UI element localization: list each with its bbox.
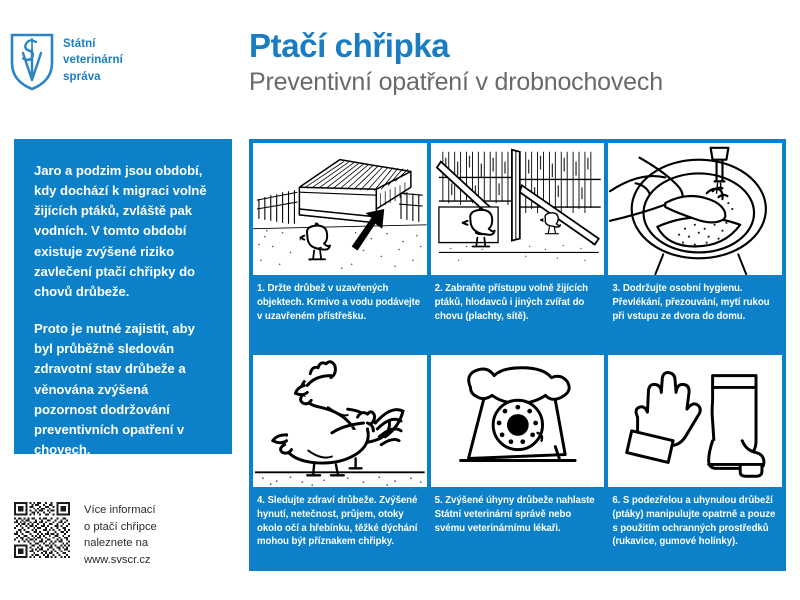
panel-caption-3: 3. Dodržujte osobní hygienu. Převlékání,… bbox=[608, 275, 782, 337]
footer-line-1: Více informací bbox=[84, 502, 157, 519]
panel-illustration-2 bbox=[431, 143, 605, 275]
page-title: Ptačí chřipka bbox=[249, 28, 663, 65]
handwashing-under-tap-icon bbox=[608, 143, 782, 275]
prevention-step-5: 5. Zvýšené úhyny drůbeže nahlaste Státní… bbox=[431, 355, 605, 567]
panel-caption-4: 4. Sledujte zdraví drůbeže. Zvýšené hynu… bbox=[253, 487, 427, 554]
organization-name: Státní veterinární správa bbox=[63, 33, 123, 85]
prevention-step-3: 3. Dodržujte osobní hygienu. Převlékání,… bbox=[608, 143, 782, 351]
prevention-step-1: 1. Držte drůbež v uzavřených objektech. … bbox=[253, 143, 427, 351]
glove-and-rubber-boot-icon bbox=[608, 355, 782, 487]
panel-caption-1: 1. Držte drůbež v uzavřených objektech. … bbox=[253, 275, 427, 337]
footer-line-2: o ptačí chřipce bbox=[84, 519, 157, 536]
logo-line-1: Státní bbox=[63, 36, 123, 52]
prevention-step-2: 2. Zabraňte přístupu volně žijících pták… bbox=[431, 143, 605, 351]
footer-website-url: www.svscr.cz bbox=[84, 552, 157, 569]
panel-illustration-3 bbox=[608, 143, 782, 275]
panel-illustration-5 bbox=[431, 355, 605, 487]
logo-line-3: správa bbox=[63, 69, 123, 85]
qr-code-icon bbox=[14, 502, 70, 558]
organization-logo: Státní veterinární správa bbox=[10, 33, 123, 91]
footer-text: Více informací o ptačí chřipce naleznete… bbox=[84, 502, 157, 568]
rotary-telephone-icon bbox=[431, 355, 605, 487]
panel-caption-2: 2. Zabraňte přístupu volně žijících pták… bbox=[431, 275, 605, 337]
title-block: Ptačí chřipka Preventivní opatření v dro… bbox=[249, 28, 663, 97]
info-sidebar: Jaro a podzim jsou období, kdy dochází k… bbox=[14, 139, 232, 454]
panel-illustration-1 bbox=[253, 143, 427, 275]
barn-with-chicken-icon bbox=[253, 143, 427, 275]
footer-info: Více informací o ptačí chřipce naleznete… bbox=[14, 502, 157, 568]
two-chickens-icon bbox=[253, 355, 427, 487]
shield-logo-icon bbox=[10, 33, 54, 91]
prevention-steps-grid: 1. Držte drůbež v uzavřených objektech. … bbox=[249, 139, 786, 571]
fence-netting-with-chicken-icon bbox=[431, 143, 605, 275]
poster-header: Státní veterinární správa Ptačí chřipka … bbox=[0, 0, 800, 130]
sidebar-paragraph-2: Proto je nutné zajistit, aby byl průběžn… bbox=[34, 319, 214, 460]
sidebar-paragraph-1: Jaro a podzim jsou období, kdy dochází k… bbox=[34, 161, 214, 302]
page-subtitle: Preventivní opatření v drobnochovech bbox=[249, 68, 663, 97]
prevention-step-6: 6. S podezřelou a uhynulou drůbeží (pták… bbox=[608, 355, 782, 567]
panel-caption-5: 5. Zvýšené úhyny drůbeže nahlaste Státní… bbox=[431, 487, 605, 549]
panel-illustration-6 bbox=[608, 355, 782, 487]
panel-illustration-4 bbox=[253, 355, 427, 487]
footer-line-3: naleznete na bbox=[84, 535, 157, 552]
panel-caption-6: 6. S podezřelou a uhynulou drůbeží (pták… bbox=[608, 487, 782, 554]
logo-line-2: veterinární bbox=[63, 52, 123, 68]
prevention-step-4: 4. Sledujte zdraví drůbeže. Zvýšené hynu… bbox=[253, 355, 427, 567]
